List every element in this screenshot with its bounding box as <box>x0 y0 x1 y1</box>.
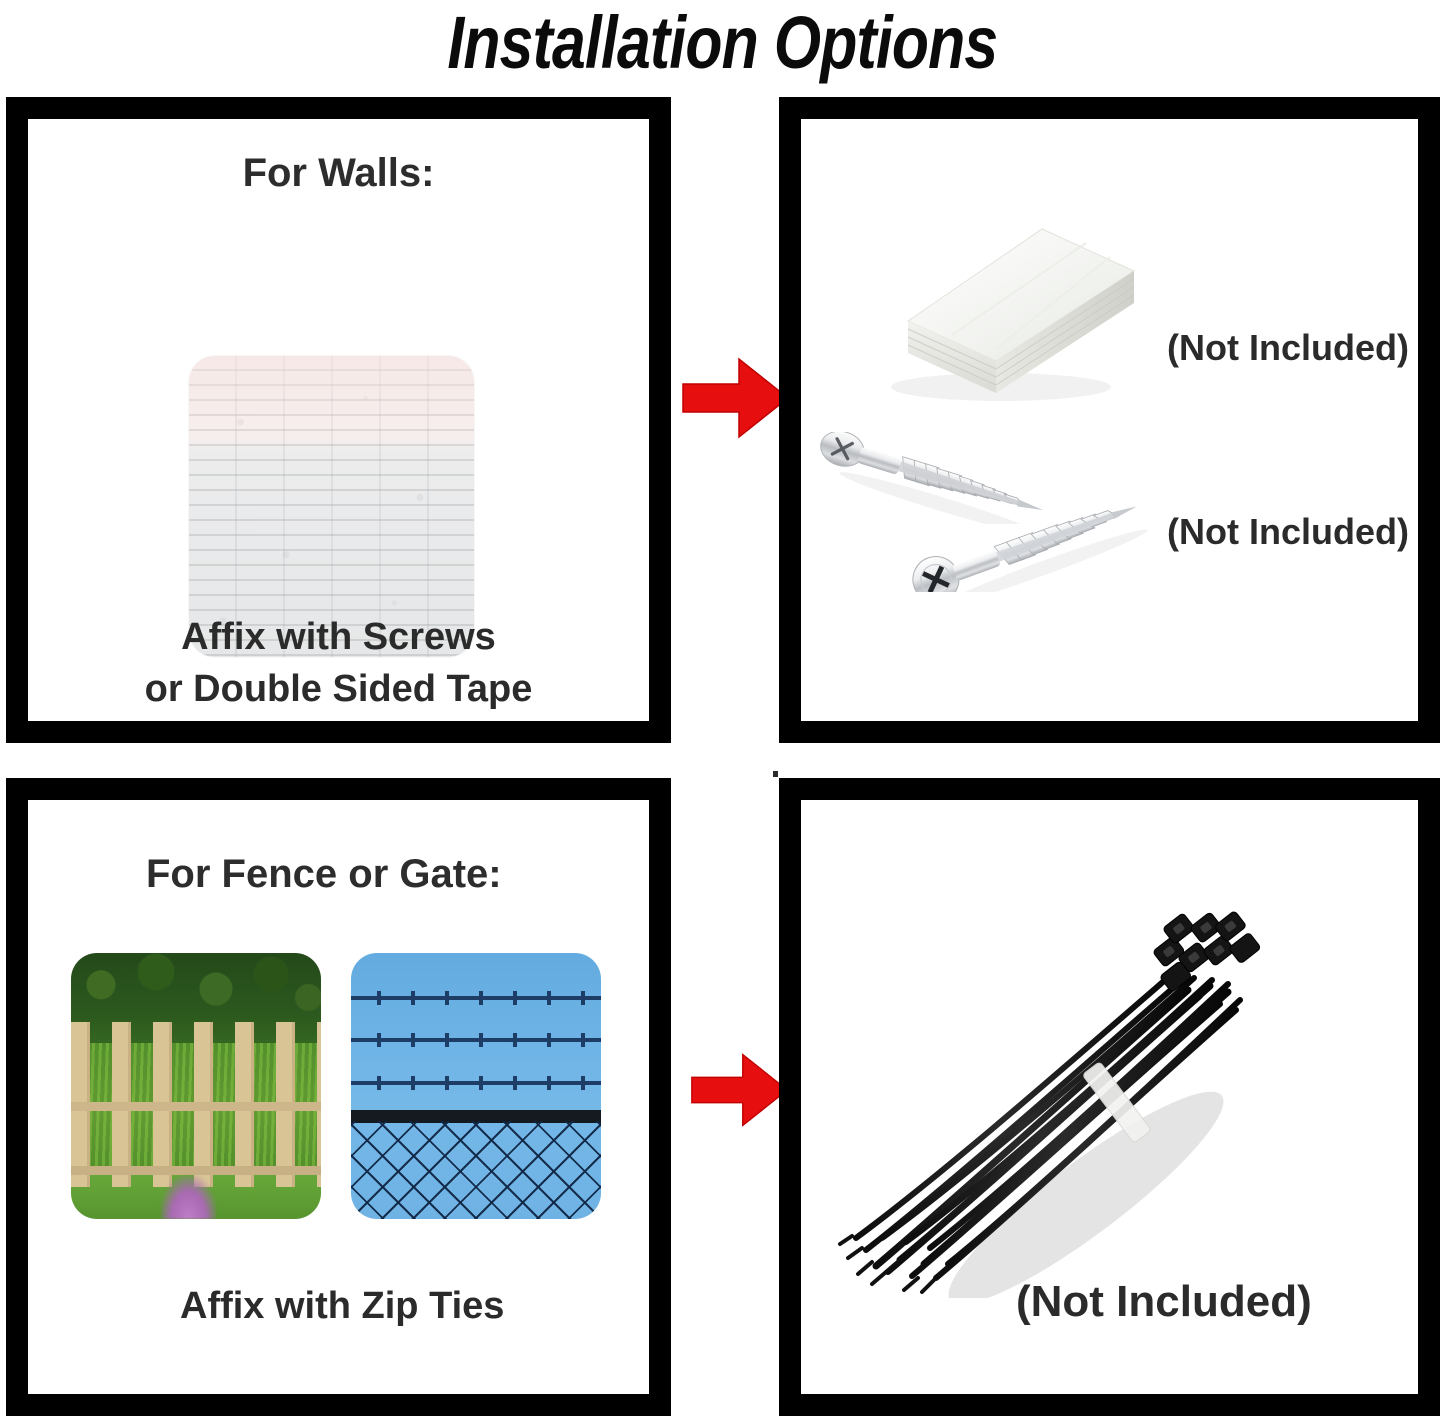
for-fence-heading: For Fence or Gate: <box>28 852 649 897</box>
screws-not-included-label: (Not Included) <box>1167 511 1409 553</box>
right-arrow-icon-bottom <box>690 1050 790 1130</box>
right-arrow-icon-top <box>681 355 791 441</box>
tape-not-included-label: (Not Included) <box>1167 327 1409 369</box>
wood-screw-icon-lower <box>898 500 1158 592</box>
for-walls-caption-line-2: or Double Sided Tape <box>28 663 649 715</box>
purple-path <box>161 1176 216 1219</box>
brick-top-tint <box>189 356 474 455</box>
wooden-fence-photo <box>71 953 321 1219</box>
for-walls-caption-line-1: Affix with Screws <box>28 611 649 663</box>
zip-tie-bundle-icon <box>836 898 1336 1298</box>
dust-speck-artifact <box>773 771 778 777</box>
for-walls-heading: For Walls: <box>28 151 649 196</box>
chain-link-fence-photo <box>351 953 601 1219</box>
barbed-wire-strand-1 <box>351 996 601 1000</box>
panel-wall-hardware-content <box>801 119 1418 721</box>
barbed-wire-strand-2 <box>351 1038 601 1042</box>
chain-link-mesh <box>351 1121 601 1219</box>
zipties-not-included-label: (Not Included) <box>1016 1277 1312 1327</box>
fence-bottom-rail <box>71 1166 321 1175</box>
page-title-bar: Installation Options <box>0 0 1445 86</box>
page-title: Installation Options <box>448 6 998 80</box>
for-fence-caption: Affix with Zip Ties <box>28 1280 649 1332</box>
double-sided-tape-stack-icon <box>846 215 1146 415</box>
panel-wall-hardware <box>779 97 1440 743</box>
fence-top-rail <box>71 1102 321 1111</box>
panel-for-walls-content: For Walls: Affix with Screws or Double S… <box>28 119 649 721</box>
panel-for-walls: For Walls: Affix with Screws or Double S… <box>6 97 671 743</box>
barbed-wire-strand-3 <box>351 1081 601 1085</box>
